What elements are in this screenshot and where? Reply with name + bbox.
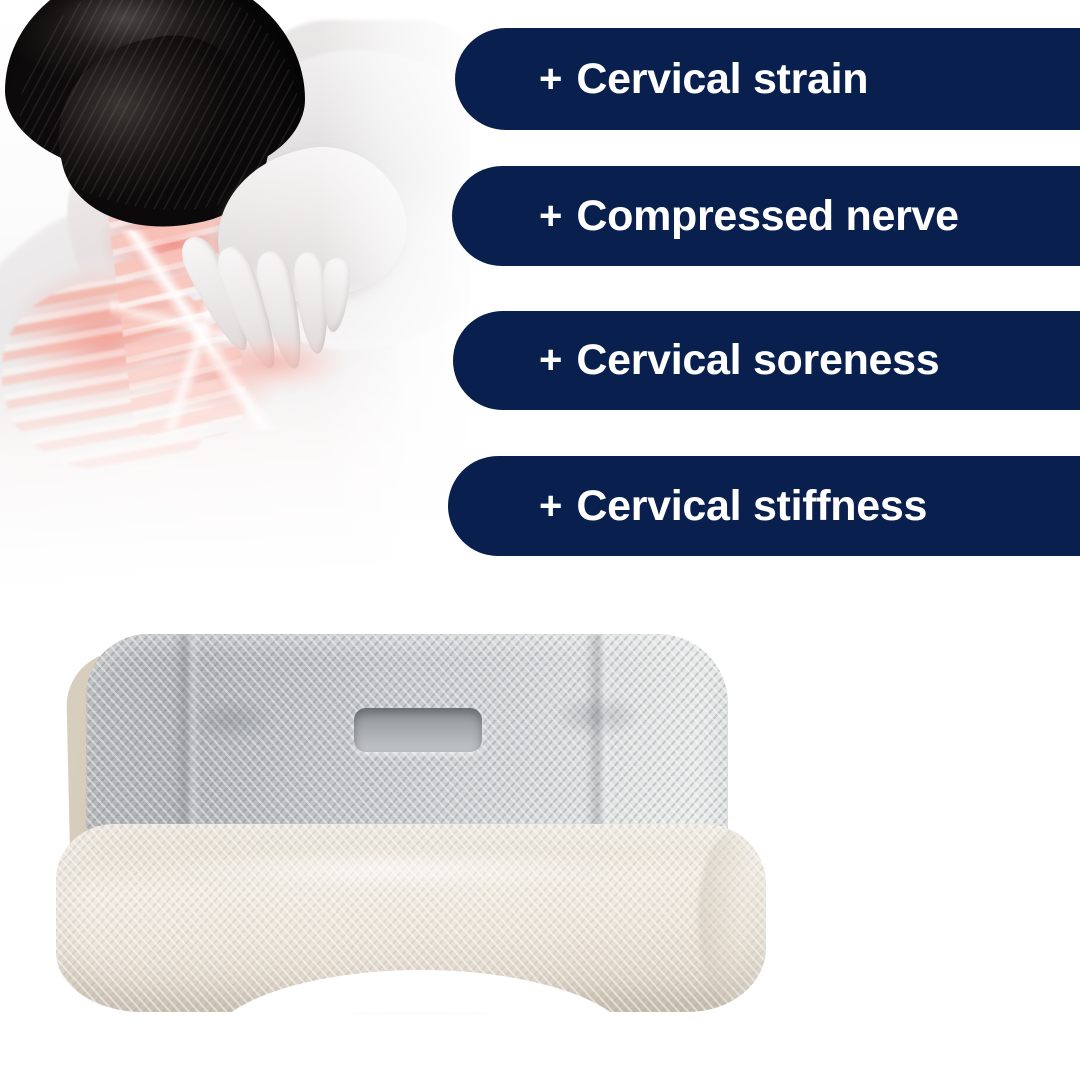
plus-icon: + (539, 484, 562, 529)
benefit-banner-label: Compressed nerve (576, 195, 958, 238)
roll-end-cap (698, 830, 766, 1006)
pillow-cream-neck-roll (56, 824, 766, 1012)
benefit-banner-cervical-stiffness[interactable]: + Cervical stiffness (448, 456, 1080, 556)
benefit-banner-cervical-soreness[interactable]: + Cervical soreness (453, 311, 1080, 410)
benefit-banner-cervical-strain[interactable]: + Cervical strain (455, 28, 1080, 130)
photo-right-fade (320, 0, 470, 660)
benefit-banner-label: Cervical strain (576, 58, 868, 101)
benefit-banner-label: Cervical stiffness (576, 485, 927, 528)
plus-icon: + (539, 194, 562, 239)
benefit-banner-compressed-nerve[interactable]: + Compressed nerve (452, 166, 1080, 266)
plus-icon: + (539, 338, 562, 383)
poster-canvas: + Cervical strain + Compressed nerve + C… (0, 0, 1080, 1080)
roll-highlight (92, 842, 692, 896)
plus-icon: + (539, 57, 562, 102)
pillow-center-notch (354, 708, 482, 752)
cervical-memory-foam-pillow[interactable] (48, 612, 788, 1012)
benefit-banner-label: Cervical soreness (576, 339, 939, 382)
neck-pain-photo (0, 0, 470, 660)
